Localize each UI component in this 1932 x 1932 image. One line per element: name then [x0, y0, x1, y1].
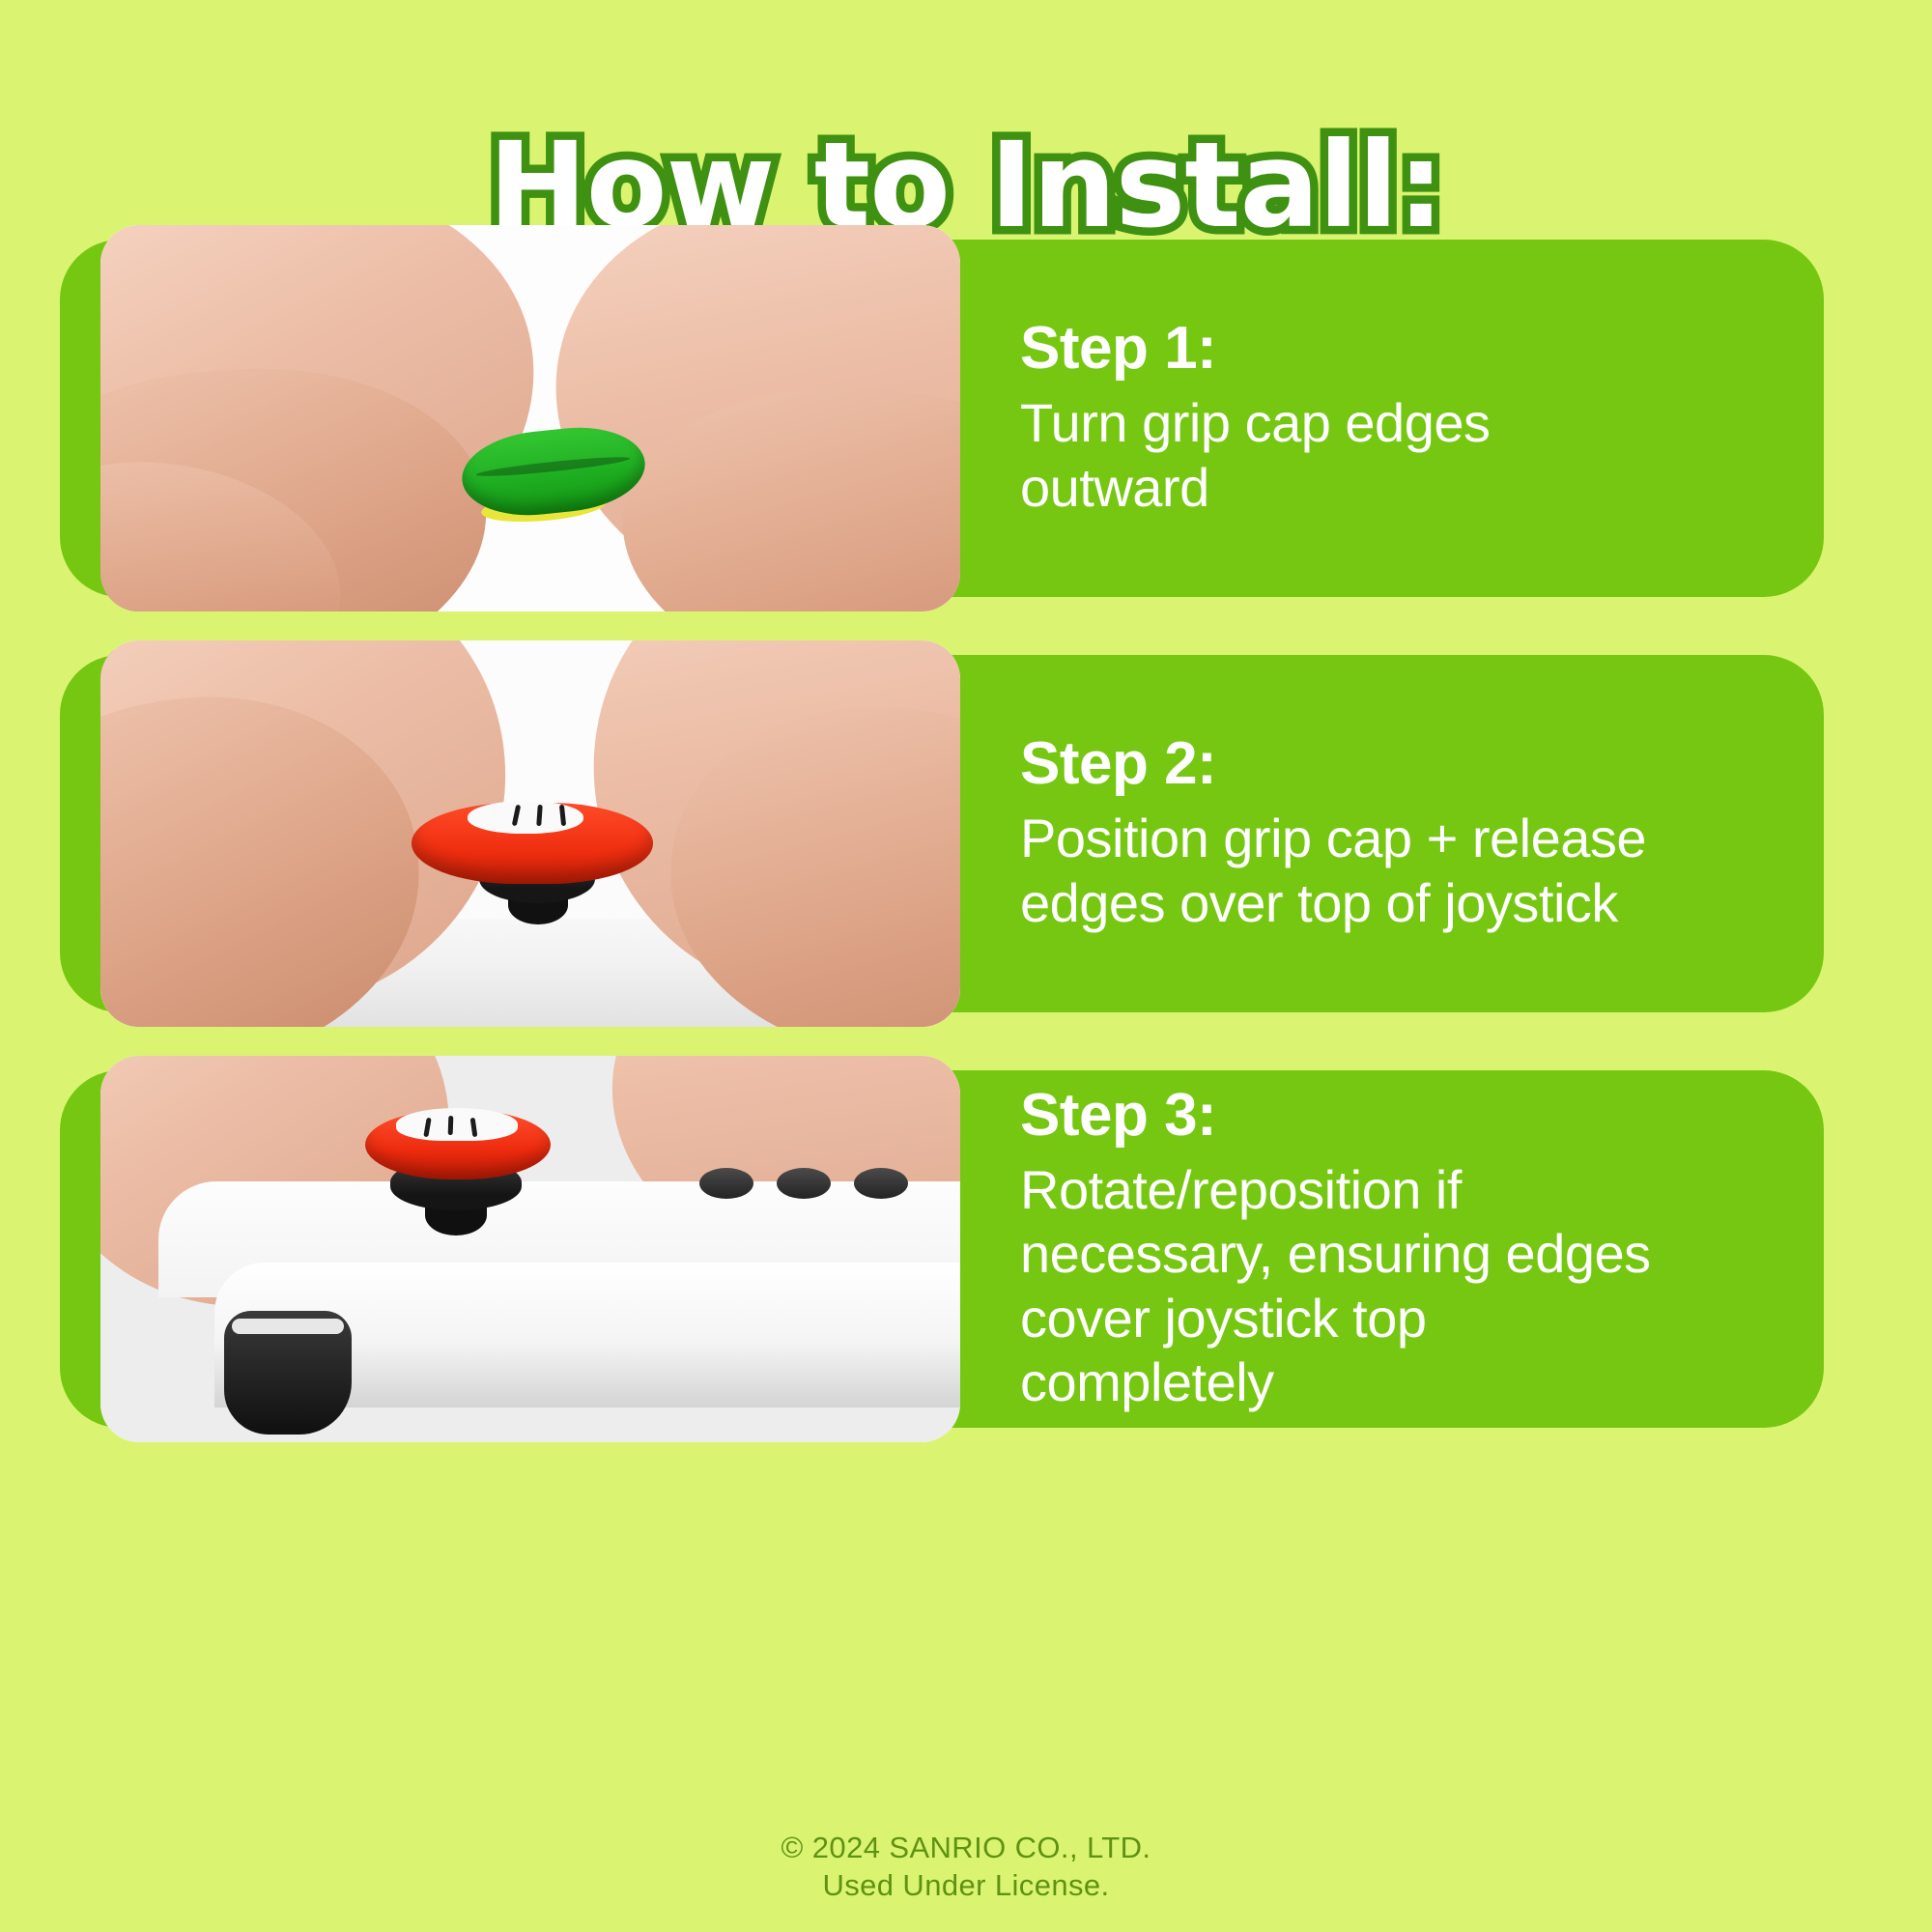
scene-installed-cap [100, 1056, 960, 1442]
copyright-line: © 2024 SANRIO CO., LTD. [0, 1829, 1932, 1867]
step-2-title: Step 2: [1020, 732, 1785, 795]
face-button-1 [699, 1168, 753, 1199]
grip-cap-face-patch [396, 1108, 518, 1141]
footer: © 2024 SANRIO CO., LTD. Used Under Licen… [0, 1829, 1932, 1905]
step-card-3: Step 3: Rotate/reposition if necessary, … [60, 1070, 1824, 1428]
step-card-1: Step 1: Turn grip cap edges outward [60, 240, 1824, 597]
step-1-photo [100, 225, 960, 611]
step-1-body: Turn grip cap edges outward [1020, 391, 1658, 519]
step-1-title: Step 1: [1020, 317, 1785, 380]
step-card-2: Step 2: Position grip cap + release edge… [60, 655, 1824, 1012]
face-button-3 [854, 1168, 908, 1199]
step-1-text: Step 1: Turn grip cap edges outward [960, 317, 1824, 519]
step-3-photo [100, 1056, 960, 1442]
license-line: Used Under License. [0, 1866, 1932, 1905]
grip-cap-face-patch [468, 801, 583, 834]
scene-position-red-cap [100, 640, 960, 1027]
steps-list: Step 1: Turn grip cap edges outward [60, 240, 1876, 1486]
step-3-body: Rotate/reposition if necessary, ensuring… [1020, 1158, 1658, 1413]
step-3-title: Step 3: [1020, 1084, 1785, 1147]
face-button-2 [777, 1168, 831, 1199]
page-header: How to Install: [0, 41, 1932, 185]
step-3-text: Step 3: Rotate/reposition if necessary, … [960, 1084, 1824, 1413]
step-2-body: Position grip cap + release edges over t… [1020, 807, 1658, 934]
controller-left-grip-highlight [232, 1319, 344, 1334]
cap-marking-2 [448, 1116, 454, 1135]
step-2-photo [100, 640, 960, 1027]
step-2-text: Step 2: Position grip cap + release edge… [960, 732, 1824, 934]
scene-pinch-green-cap [100, 225, 960, 611]
